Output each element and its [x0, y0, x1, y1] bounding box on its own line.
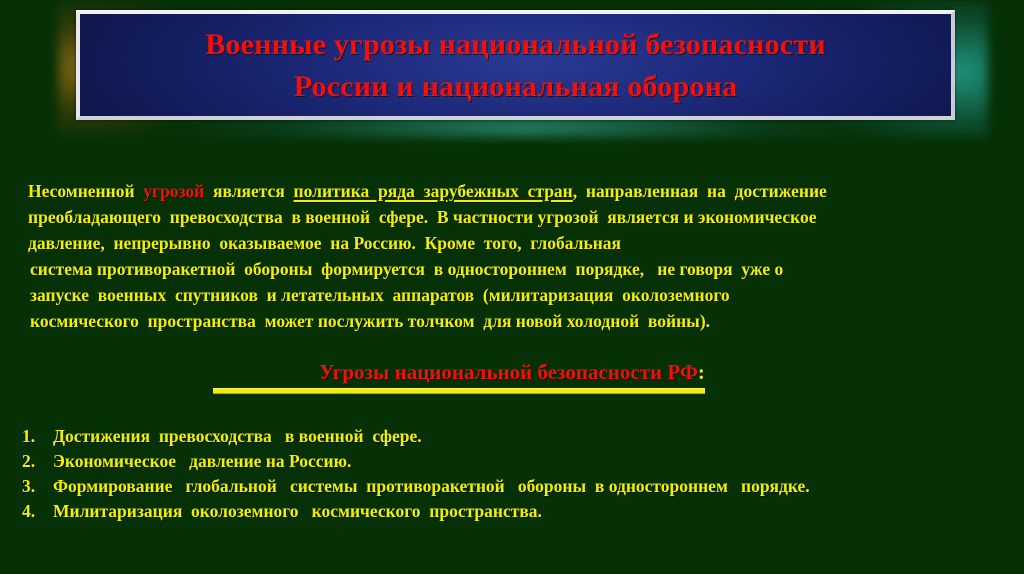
body-line-6: космического пространства может послужит…	[0, 308, 1024, 334]
list-item: 2. Экономическое давление на Россию.	[0, 449, 1024, 474]
title-line-2: России и национальная оборона	[294, 66, 738, 108]
title-box: Военные угрозы национальной безопасности…	[76, 10, 955, 120]
body-line-1-underlined-phrase: политика ряда зарубежных стран	[294, 181, 573, 201]
slide-canvas: Военные угрозы национальной безопасности…	[0, 0, 1024, 574]
list-item-label: Достижения превосходства в военной сфере…	[53, 424, 422, 449]
body-line-1-part-e: , направленная на достижение	[573, 181, 827, 201]
body-line-4: система противоракетной обороны формируе…	[0, 256, 1024, 282]
section-heading: Угрозы национальной безопасности РФ:	[319, 358, 705, 386]
section-heading-container: Угрозы национальной безопасности РФ:	[0, 358, 1024, 386]
title-line-1: Военные угрозы национальной безопасности	[205, 24, 826, 66]
body-line-3: давление, непрерывно оказываемое на Росс…	[0, 230, 1024, 256]
list-item-label: Милитаризация околоземного космического …	[53, 499, 542, 524]
body-paragraph: Несомненной угрозой является политика ря…	[0, 178, 1024, 334]
body-line-5: запуске военных спутников и летательных …	[0, 282, 1024, 308]
list-item-number: 2.	[22, 449, 53, 474]
list-item-label: Экономическое давление на Россию.	[53, 449, 351, 474]
body-line-2: преобладающего превосходства в военной с…	[0, 204, 1024, 230]
list-item: 4. Милитаризация околоземного космическо…	[0, 499, 1024, 524]
body-line-1: Несомненной угрозой является политика ря…	[0, 178, 1024, 204]
title-box-inner: Военные угрозы национальной безопасности…	[80, 14, 951, 116]
body-line-1-part-c: является	[204, 181, 293, 201]
list-item-label: Формирование глобальной системы противор…	[53, 474, 810, 499]
list-item-number: 3.	[22, 474, 53, 499]
body-line-1-part-a: Несомненной	[28, 181, 143, 201]
section-heading-colon: :	[698, 360, 705, 384]
threat-list: 1. Достижения превосходства в военной сф…	[0, 424, 1024, 524]
body-line-1-highlight-threat: угрозой	[143, 181, 204, 201]
list-item-number: 1.	[22, 424, 53, 449]
section-heading-underline-rule	[213, 388, 705, 394]
list-item: 3. Формирование глобальной системы проти…	[0, 474, 1024, 499]
list-item-number: 4.	[22, 499, 53, 524]
section-heading-text: Угрозы национальной безопасности РФ	[319, 360, 698, 384]
list-item: 1. Достижения превосходства в военной сф…	[0, 424, 1024, 449]
